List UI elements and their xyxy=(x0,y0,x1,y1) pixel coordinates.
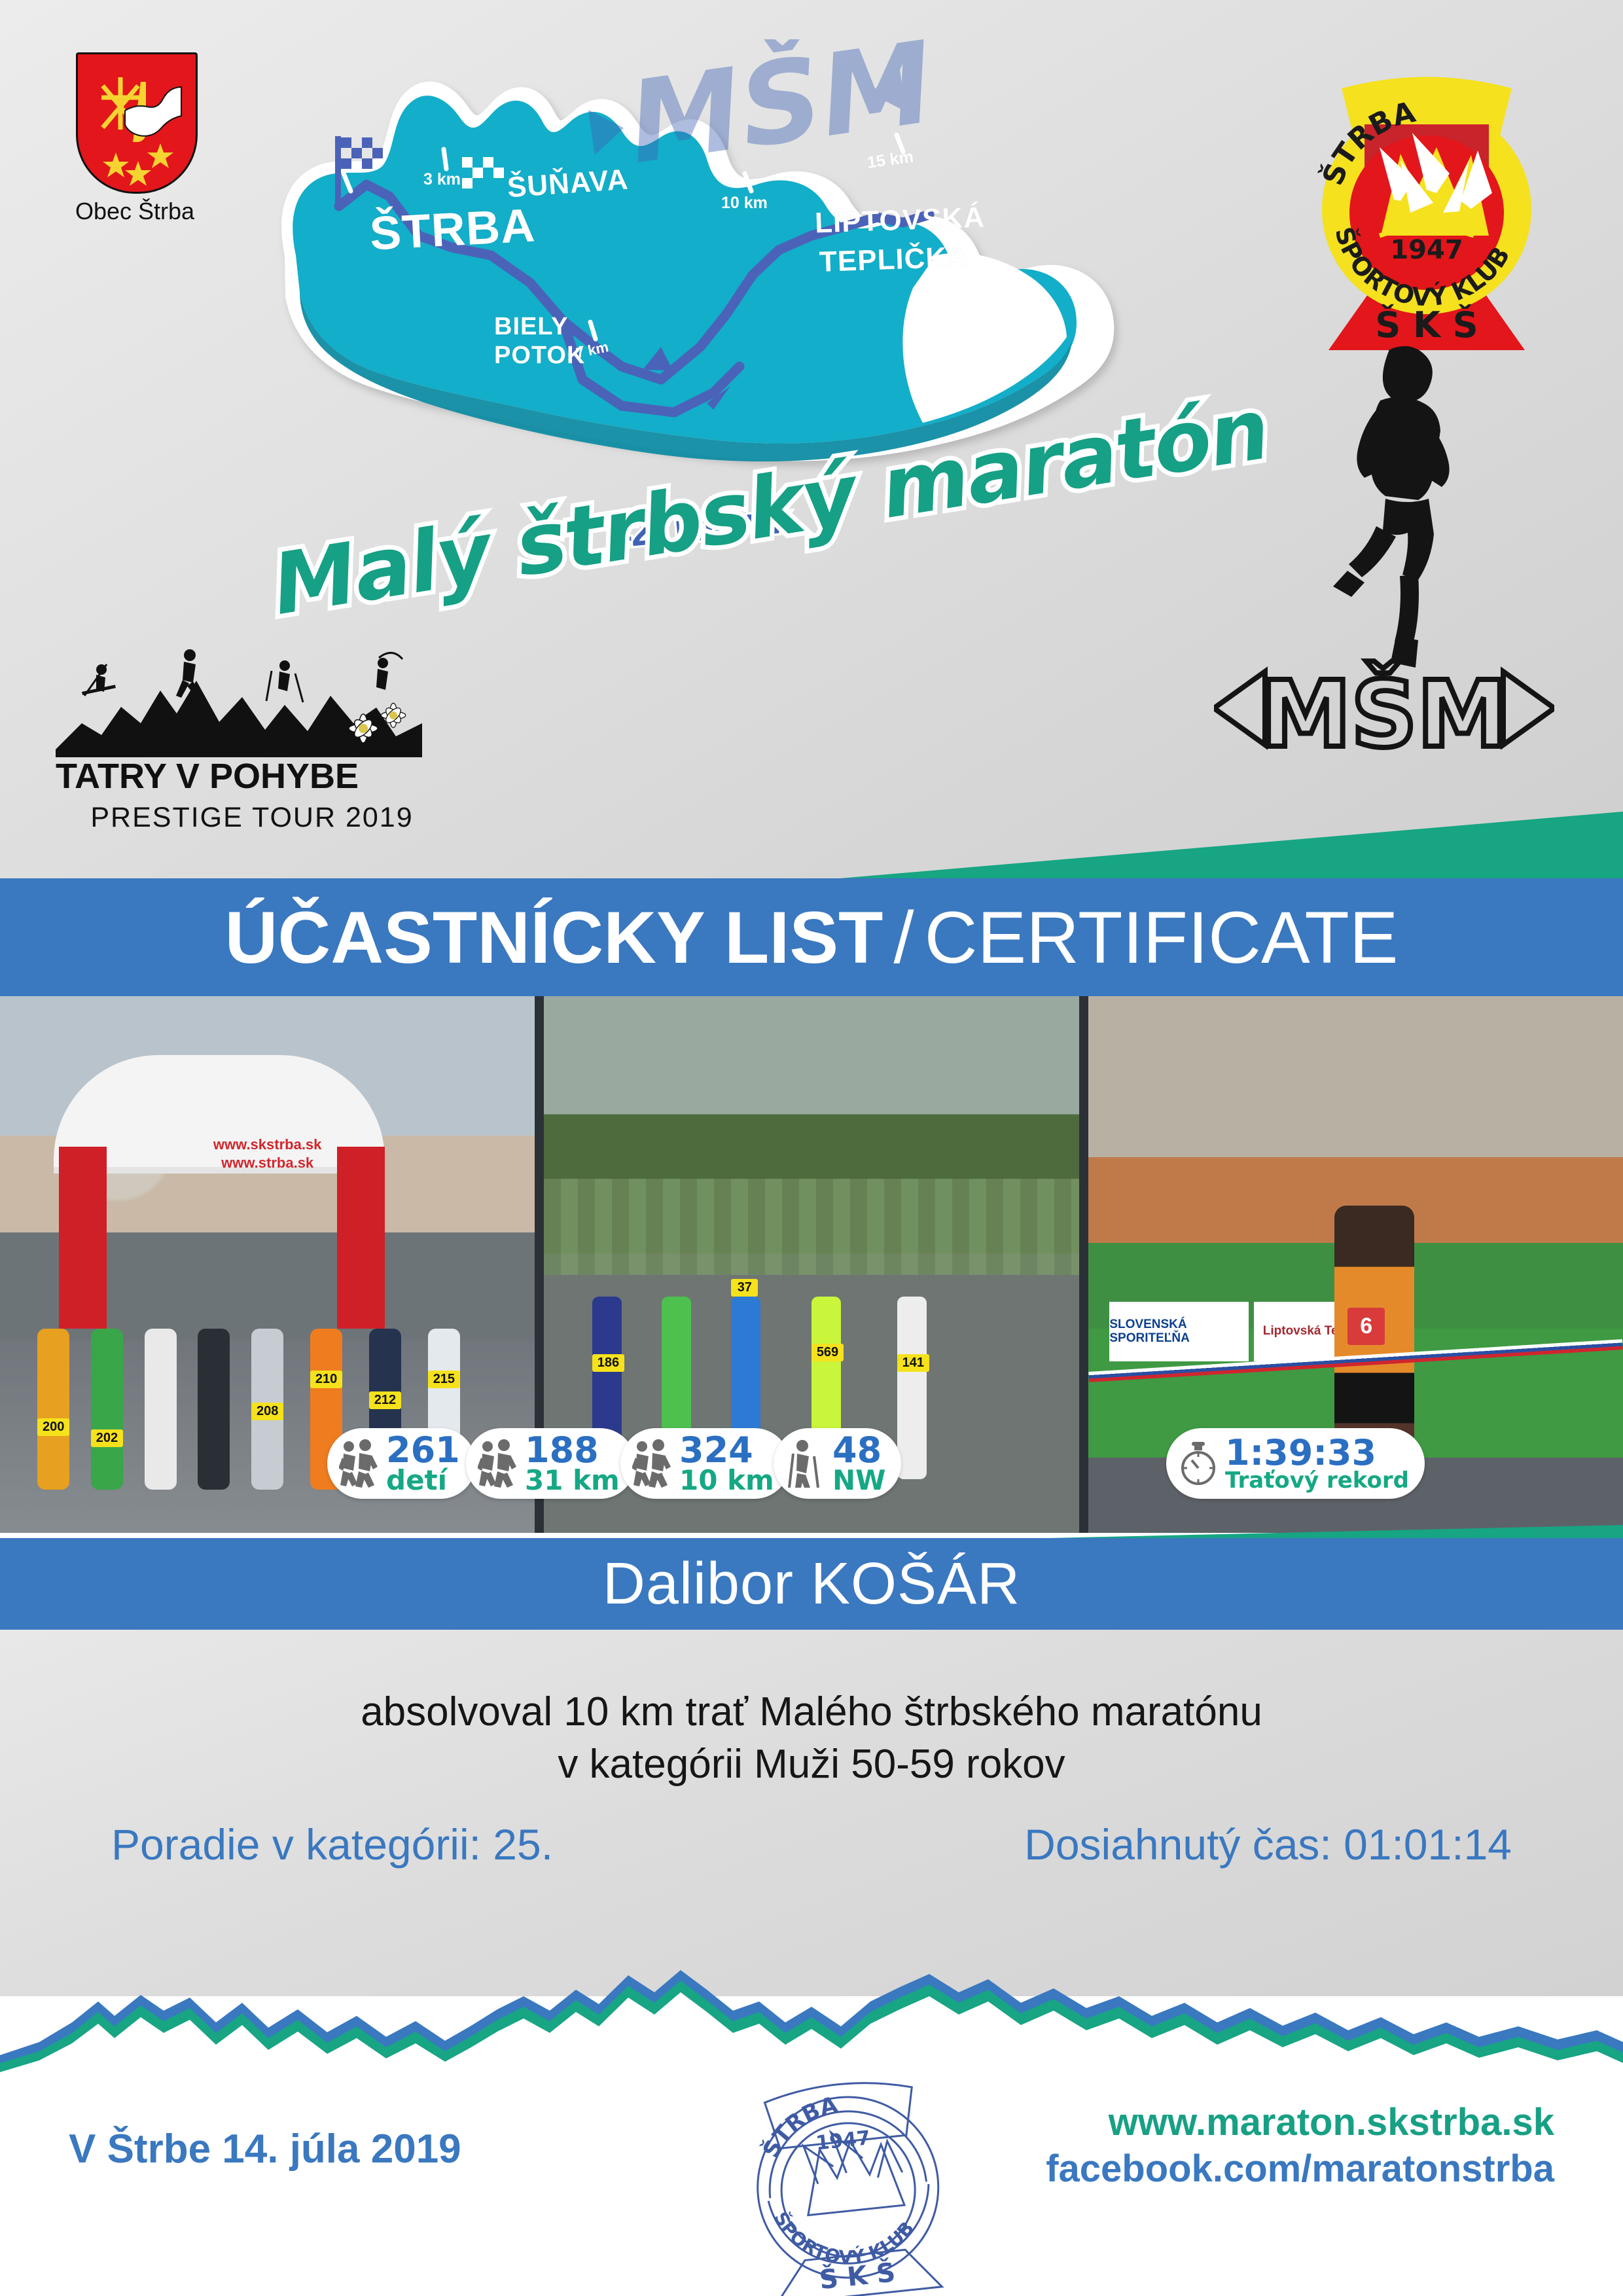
crest-shield-icon xyxy=(76,52,198,194)
arch-leg-right xyxy=(337,1147,385,1329)
map-place-liptovska: LIPTOVSKÁ xyxy=(814,201,986,240)
sponsor-banner-slovenska-sporitelna: SLOVENSKÁ SPORITEĽŇA xyxy=(1109,1302,1249,1361)
map-place-biely: BIELY xyxy=(494,313,568,341)
runner-silhouette-icon xyxy=(1312,340,1482,681)
runner-pack xyxy=(544,1179,1079,1276)
kid-runner xyxy=(428,1329,460,1490)
kid-runner xyxy=(37,1329,69,1490)
certificate-page: Obec Štrba MŠM xyxy=(0,0,1623,2296)
msm-logo-text: MŠM xyxy=(1260,660,1508,766)
sks-logo-icon: 1947 ŠTRBA ŠPORTOVÝ KLUB Š K Š xyxy=(1302,62,1551,350)
crest-label: Obec Štrba xyxy=(67,198,203,225)
bib-number: 210 xyxy=(310,1371,342,1388)
bib-number: 186 xyxy=(592,1354,624,1372)
arch-leg-left xyxy=(59,1147,107,1329)
map-place-potok: POTOK xyxy=(494,342,585,370)
photo-kids-start: www.skstrba.skwww.strba.sk 200 202 208 2… xyxy=(0,996,535,1533)
arch-url-text: www.skstrba.skwww.strba.sk xyxy=(0,1136,535,1172)
certificate-title-en: CERTIFICATE xyxy=(925,895,1399,980)
bib-number: 141 xyxy=(897,1354,929,1372)
hero-section: Obec Štrba MŠM xyxy=(0,0,1623,880)
bib-number: 215 xyxy=(428,1371,460,1388)
sks-year-text: 1947 xyxy=(1390,235,1463,265)
certificate-title-separator: / xyxy=(893,895,914,980)
event-title: Malý štrbský maratón xyxy=(281,497,1342,661)
bib-number: 569 xyxy=(811,1344,844,1361)
bib-number: 202 xyxy=(91,1429,123,1447)
map-place-strba: ŠTRBA xyxy=(368,198,537,260)
footer-stamp: 1947 ŠTRBA ŠPORTOVÝ KLUB Š K Š xyxy=(740,2068,955,2296)
kid-runner xyxy=(145,1329,177,1490)
mountain-divider xyxy=(0,1924,1623,2081)
tatry-main-label: TATRY V POHYBE xyxy=(56,756,422,797)
runner-figure xyxy=(811,1297,841,1479)
bib-number: 208 xyxy=(251,1403,283,1420)
bib-number: 200 xyxy=(37,1418,69,1436)
winner-bib-number: 6 xyxy=(1347,1308,1385,1345)
sks-club-logo: 1947 ŠTRBA ŠPORTOVÝ KLUB Š K Š xyxy=(1302,62,1551,350)
certificate-title-sk: ÚČASTNÍCKY LIST xyxy=(224,895,883,980)
bib-number: 37 xyxy=(731,1279,758,1297)
winner-figure xyxy=(1334,1206,1415,1484)
photo-finish-winner: SLOVENSKÁ SPORITEĽŇA Liptovská Teplička … xyxy=(1088,996,1623,1533)
crest-artwork-icon xyxy=(78,54,196,192)
sks-bottom-text: Š K Š xyxy=(1375,304,1478,346)
participant-name-band: Dalibor KOŠÁR xyxy=(0,1538,1623,1630)
runner-figure xyxy=(662,1297,691,1479)
footer: V Štrbe 14. júla 2019 1947 ŠTRBA xyxy=(0,2075,1623,2296)
website-link[interactable]: www.maraton.skstrba.sk xyxy=(1046,2100,1554,2146)
tatry-sub-label: PRESTIGE TOUR 2019 xyxy=(56,802,448,834)
time-label: Dosiahnutý čas: 01:01:14 xyxy=(1024,1820,1512,1869)
photo-strip: www.skstrba.skwww.strba.sk 200 202 208 2… xyxy=(0,996,1623,1533)
map-marker-10km: 10 km xyxy=(721,194,768,213)
result-line-2: v kategórii Muži 50-59 rokov xyxy=(0,1741,1623,1787)
participant-name: Dalibor KOŠÁR xyxy=(603,1551,1020,1618)
footer-date: V Štrbe 14. júla 2019 xyxy=(69,2126,461,2172)
photo-road-race: 186 569 141 37 xyxy=(544,996,1079,1533)
map-place-teplicka: TEPLIČKA xyxy=(819,241,969,279)
obec-strba-crest: Obec Štrba xyxy=(76,52,194,209)
kid-runner xyxy=(91,1329,123,1490)
runner-figure xyxy=(897,1297,927,1479)
msm-logo-icon: MŠM xyxy=(1214,648,1554,766)
mountain-ridge-icon xyxy=(0,1924,1623,2081)
certificate-title-band: ÚČASTNÍCKY LIST / CERTIFICATE xyxy=(0,878,1623,996)
footer-links: www.maraton.skstrba.sk facebook.com/mara… xyxy=(1046,2100,1554,2193)
mountain-sketch-icon xyxy=(56,645,422,762)
sks-stamp-icon: 1947 ŠTRBA ŠPORTOVÝ KLUB Š K Š xyxy=(740,2068,955,2296)
msm-logo: MŠM xyxy=(1214,648,1554,766)
rank-label: Poradie v kategórii: 25. xyxy=(111,1820,553,1869)
runner-figure xyxy=(592,1297,622,1479)
facebook-link[interactable]: facebook.com/maratonstrba xyxy=(1046,2146,1554,2193)
tatry-v-pohybe-logo: TATRY V POHYBE PRESTIGE TOUR 2019 xyxy=(56,645,448,841)
bib-number: 212 xyxy=(369,1391,401,1409)
result-line-1: absolvoval 10 km trať Malého štrbského m… xyxy=(0,1689,1623,1735)
map-marker-3km: 3 km xyxy=(423,170,461,189)
stamp-year: 1947 xyxy=(815,2126,872,2155)
kid-runner xyxy=(369,1329,401,1490)
kid-runner xyxy=(310,1329,342,1490)
kid-runner xyxy=(198,1329,230,1490)
runner-figure xyxy=(731,1297,760,1479)
